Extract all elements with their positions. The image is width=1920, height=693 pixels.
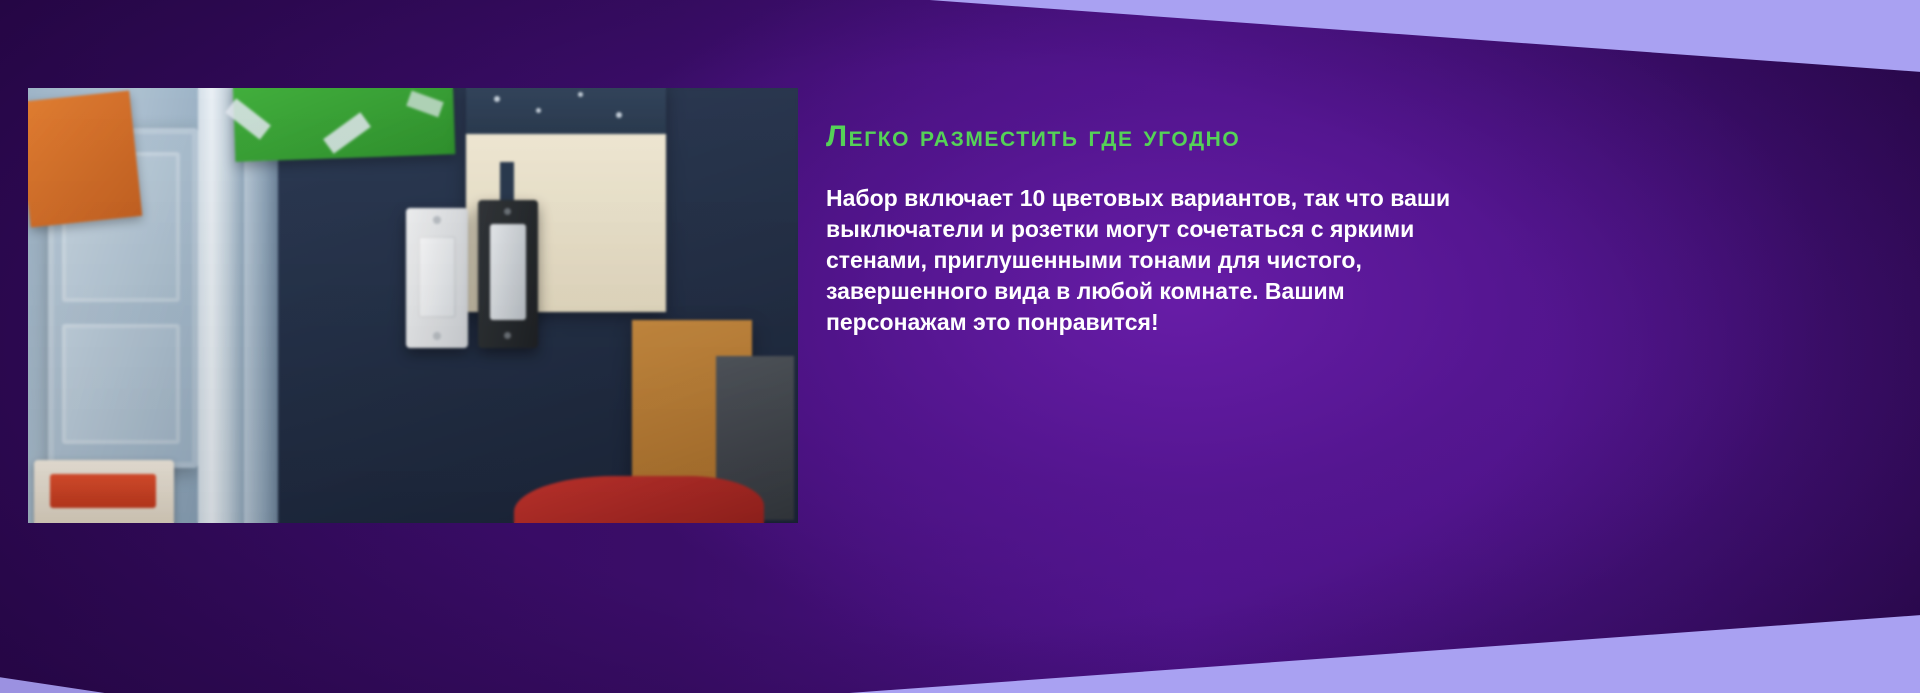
text-column: Легко разместить где угодно Набор включа… [826,120,1526,338]
banner-headline: Легко разместить где угодно [826,120,1526,153]
game-screenshot [28,88,798,523]
promo-banner: Легко разместить где угодно Набор включа… [0,0,1920,693]
screenshot-overlay [28,88,798,523]
banner-body-text: Набор включает 10 цветовых вариантов, та… [826,183,1474,338]
